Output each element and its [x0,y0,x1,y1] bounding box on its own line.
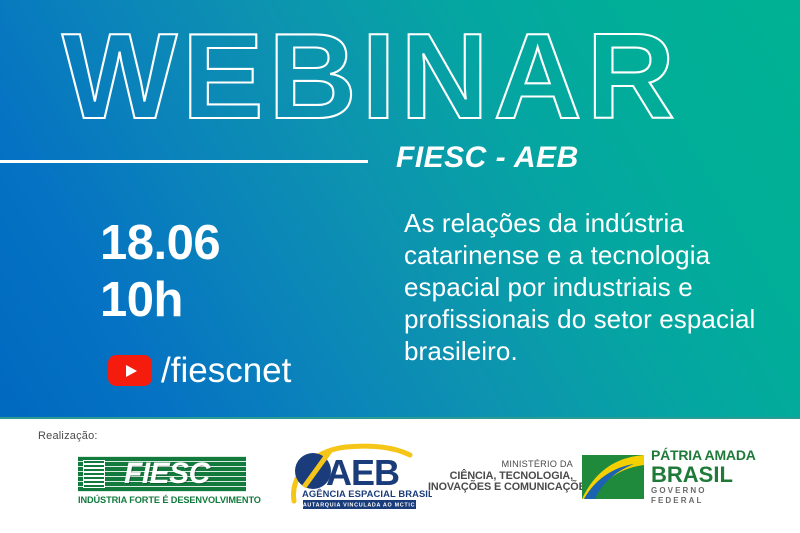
webinar-title-svg: WEBINAR [0,14,800,142]
event-description: As relações da indústria catarinense e a… [404,207,770,367]
webinar-poster: WEBINAR FIESC - AEB 18.06 10h /fiescnet … [0,0,800,533]
fiesc-emblem-lines [84,461,104,487]
youtube-icon[interactable] [108,355,152,386]
brasil-line-2: BRASIL [651,463,756,486]
brasil-text-block: PÁTRIA AMADA BRASIL GOVERNO FEDERAL [651,448,756,506]
aeb-wordmark: AEB [326,452,399,493]
ministry-text-block: MINISTÉRIO DA CIÊNCIA, TECNOLOGIA, INOVA… [428,459,573,494]
sponsor-logos: FIESC INDÚSTRIA FORTE É DESENVOLVIMENTO … [78,443,758,515]
ministry-line-3: INOVAÇÕES E COMUNICAÇÕES [428,482,573,494]
fiesc-emblem-icon [83,460,105,488]
youtube-handle[interactable]: /fiescnet [161,353,291,388]
event-date: 18.06 [100,215,220,272]
aeb-logo: AEB AGÊNCIA ESPACIAL BRASILEIRA AUTARQUI… [286,443,432,511]
aeb-bar-text: AUTARQUIA VINCULADA AO MCTIC [303,503,415,509]
hero-gradient-background: WEBINAR FIESC - AEB 18.06 10h /fiescnet … [0,0,800,419]
brasil-government-logo: PÁTRIA AMADA BRASIL GOVERNO FEDERAL [582,451,732,503]
aeb-name: AGÊNCIA ESPACIAL BRASILEIRA [302,488,432,499]
fiesc-tagline: INDÚSTRIA FORTE É DESENVOLVIMENTO [78,495,246,505]
realizacao-label: Realização: [38,430,98,442]
brasil-line-1: PÁTRIA AMADA [651,448,756,463]
brasil-line-3: GOVERNO FEDERAL [651,486,756,506]
play-triangle-icon [126,365,137,377]
subtitle: FIESC - AEB [396,141,579,175]
brasil-flag-icon [582,455,644,499]
fiesc-wordmark: FIESC [124,456,210,492]
fiesc-logo-box: FIESC [78,456,246,492]
event-time: 10h [100,272,220,329]
youtube-channel-row[interactable]: /fiescnet [108,353,291,388]
ministry-line-1: MINISTÉRIO DA [428,459,573,471]
title-divider-rule [0,160,368,163]
aeb-logo-svg: AEB AGÊNCIA ESPACIAL BRASILEIRA AUTARQUI… [286,443,432,511]
webinar-title-outline: WEBINAR [0,14,800,142]
fiesc-logo: FIESC INDÚSTRIA FORTE É DESENVOLVIMENTO [78,456,246,505]
date-time-block: 18.06 10h [100,215,220,329]
page-title: WEBINAR [62,14,680,142]
